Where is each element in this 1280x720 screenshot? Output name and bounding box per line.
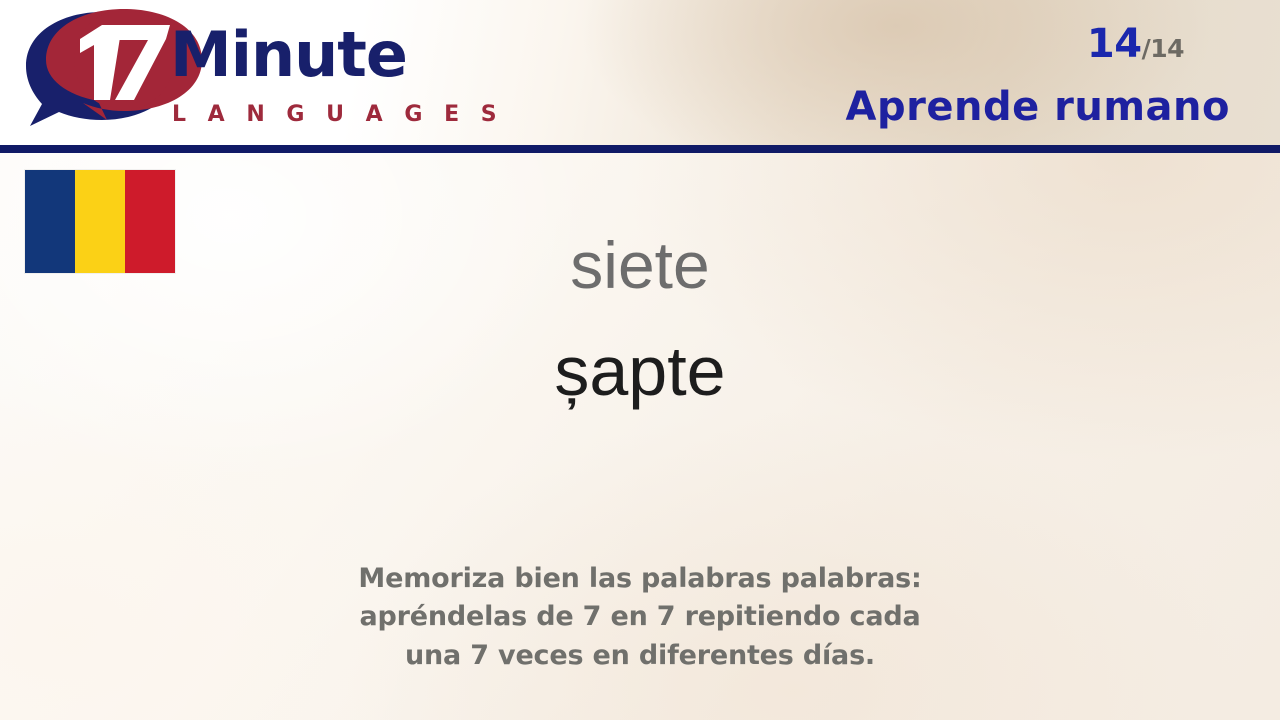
source-word: siete (0, 232, 1280, 298)
lesson-screen: Minute L A N G U A G E S 14/14 Aprende r… (0, 0, 1280, 720)
lesson-counter: 14/14 (1087, 24, 1184, 64)
lesson-counter-current: 14 (1087, 21, 1142, 67)
lesson-counter-total: /14 (1142, 34, 1184, 63)
course-title: Aprende rumano (846, 84, 1230, 130)
logo-wordmark-minute: Minute (170, 24, 407, 86)
logo-tagline-languages: L A N G U A G E S (172, 104, 504, 126)
study-hint-line-1: Memoriza bien las palabras palabras: (0, 560, 1280, 598)
vocabulary-card: siete șapte (0, 232, 1280, 406)
target-word: șapte (0, 336, 1280, 406)
study-hint-line-3: una 7 veces en diferentes días. (0, 637, 1280, 675)
study-hint-line-2: apréndelas de 7 en 7 repitiendo cada (0, 598, 1280, 636)
app-header: Minute L A N G U A G E S 14/14 Aprende r… (0, 0, 1280, 145)
header-divider (0, 145, 1280, 153)
study-hint: Memoriza bien las palabras palabras: apr… (0, 560, 1280, 675)
